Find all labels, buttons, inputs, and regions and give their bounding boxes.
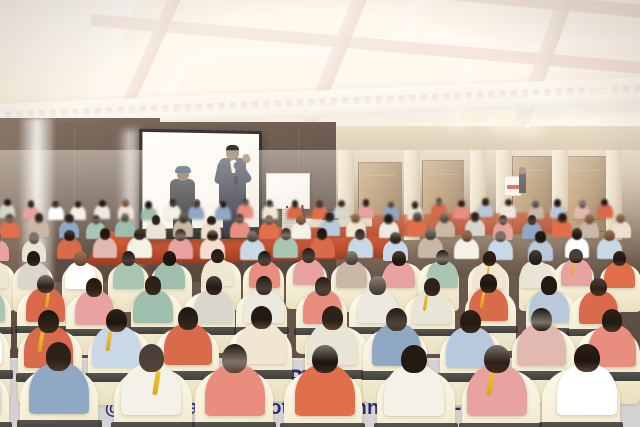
chair-sash [0, 370, 13, 379]
audience-head [528, 215, 537, 225]
audience-head [100, 228, 111, 240]
audience-head [222, 344, 248, 373]
audience-head [616, 214, 625, 224]
audience-head [322, 306, 343, 329]
audience-head [258, 251, 271, 266]
audience-head [558, 213, 567, 223]
audience-head [29, 232, 40, 244]
audience-head [572, 228, 583, 240]
audience-torso [48, 206, 64, 220]
audience-head [302, 248, 315, 263]
event-photo: Build Big Brands @ Abu Sarovar Hotel, Ch… [0, 0, 640, 427]
audience-head [265, 215, 274, 225]
audience-head [38, 310, 59, 333]
audience-head [281, 228, 292, 240]
audience-head [37, 275, 54, 294]
audience-head [436, 198, 443, 206]
audience-head [145, 201, 152, 209]
audience-head [256, 276, 273, 295]
audience-torso [215, 206, 231, 220]
downlight [596, 88, 608, 95]
audience-head [440, 213, 449, 223]
audience-head [424, 278, 441, 297]
downlight [522, 122, 534, 129]
audience-head [163, 251, 176, 266]
audience-head [535, 231, 546, 243]
audience-head [351, 214, 360, 224]
audience-head [122, 251, 135, 266]
microphone [234, 176, 238, 185]
assistant-cap [175, 166, 191, 173]
audience-head [266, 200, 273, 208]
presenter-hair [226, 145, 239, 151]
audience-head [390, 232, 401, 244]
audience-head [458, 200, 465, 208]
audience-head [590, 278, 607, 297]
audience-head [4, 199, 11, 207]
audience-torso [384, 365, 444, 416]
audience-head [569, 249, 582, 264]
audience-head [315, 277, 332, 296]
audience-head [207, 216, 216, 226]
audience-torso [561, 259, 592, 286]
audience-torso [334, 205, 350, 219]
audience-head [316, 200, 323, 208]
audience-head [484, 345, 510, 374]
audience-head [211, 249, 224, 264]
chair-sash [17, 420, 101, 427]
audience-head [541, 276, 558, 295]
audience-head [74, 251, 87, 266]
audience-head [5, 214, 14, 224]
audience-head [251, 306, 272, 329]
audience-head [28, 200, 35, 208]
audience-head [145, 276, 162, 295]
audience-head [35, 213, 44, 223]
audience-head [388, 201, 395, 209]
audience-head [505, 199, 512, 207]
audience-head [532, 200, 539, 208]
audience-head [579, 200, 586, 208]
audience-head [175, 229, 186, 241]
audience-torso [0, 221, 20, 238]
chair-sash [280, 423, 364, 427]
chair-sash [539, 422, 623, 427]
audience-head [235, 214, 244, 224]
audience-head [574, 344, 600, 373]
audience-head [207, 230, 218, 242]
audience-head [529, 250, 542, 265]
audience-head [392, 251, 405, 266]
chair-sash [111, 422, 195, 427]
audience-head [483, 251, 496, 266]
audience-head [384, 214, 393, 224]
audience-head [480, 274, 497, 293]
audience-torso [92, 326, 141, 367]
audience-head [178, 307, 199, 330]
audience-torso [113, 262, 144, 289]
audience-head [471, 212, 480, 222]
audience-head [604, 230, 615, 242]
downlight [497, 118, 509, 125]
audience-head [602, 309, 623, 332]
audience-head [317, 228, 328, 240]
chair-sash [459, 423, 543, 427]
audience-head [247, 231, 258, 243]
audience-head [460, 310, 481, 333]
audience-torso [467, 365, 527, 416]
audience-head [554, 199, 561, 207]
audience-head [122, 199, 129, 207]
audience-head [297, 215, 306, 225]
audience-head [65, 214, 74, 224]
audience-head [99, 200, 106, 208]
audience-head [152, 215, 161, 225]
audience-torso [453, 205, 469, 219]
audience-head [52, 201, 59, 209]
standing-person [519, 167, 526, 193]
chair-sash [374, 423, 458, 427]
chair-sash [0, 327, 13, 334]
audience-head [531, 308, 552, 331]
audience-head [325, 212, 334, 222]
audience-torso [336, 261, 367, 288]
chair-sash [0, 422, 12, 427]
audience-head [139, 344, 165, 373]
audience-head [27, 251, 40, 266]
audience-head [613, 251, 626, 266]
audience-head [193, 200, 200, 208]
audience-head [292, 200, 299, 208]
chair-sash [192, 422, 276, 427]
audience-head [312, 345, 338, 374]
audience-head [436, 250, 449, 265]
audience-torso [412, 291, 451, 324]
audience-head [425, 228, 436, 240]
audience-head [86, 278, 103, 297]
audience-torso [597, 204, 613, 218]
audience-head [412, 201, 419, 209]
audience-torso [115, 220, 135, 237]
audience-head [363, 199, 370, 207]
audience-head [206, 276, 223, 295]
audience-head [242, 199, 249, 207]
audience-head [92, 215, 101, 225]
audience-head [413, 212, 422, 222]
downlight [452, 114, 464, 121]
audience-head [179, 213, 188, 223]
audience-head [482, 198, 489, 206]
audience-head [170, 199, 177, 207]
audience-head [499, 215, 508, 225]
audience-head [386, 308, 407, 331]
audience-head [601, 199, 608, 207]
audience-head [495, 231, 506, 243]
audience-head [134, 229, 145, 241]
audience-head [64, 230, 75, 242]
audience-head [121, 213, 130, 223]
audience-head [106, 309, 127, 332]
audience-head [401, 345, 427, 374]
audience-head [462, 230, 473, 242]
audience-head [345, 251, 358, 266]
audience-head [46, 342, 72, 371]
audience-head [585, 214, 594, 224]
audience-head [369, 276, 386, 295]
